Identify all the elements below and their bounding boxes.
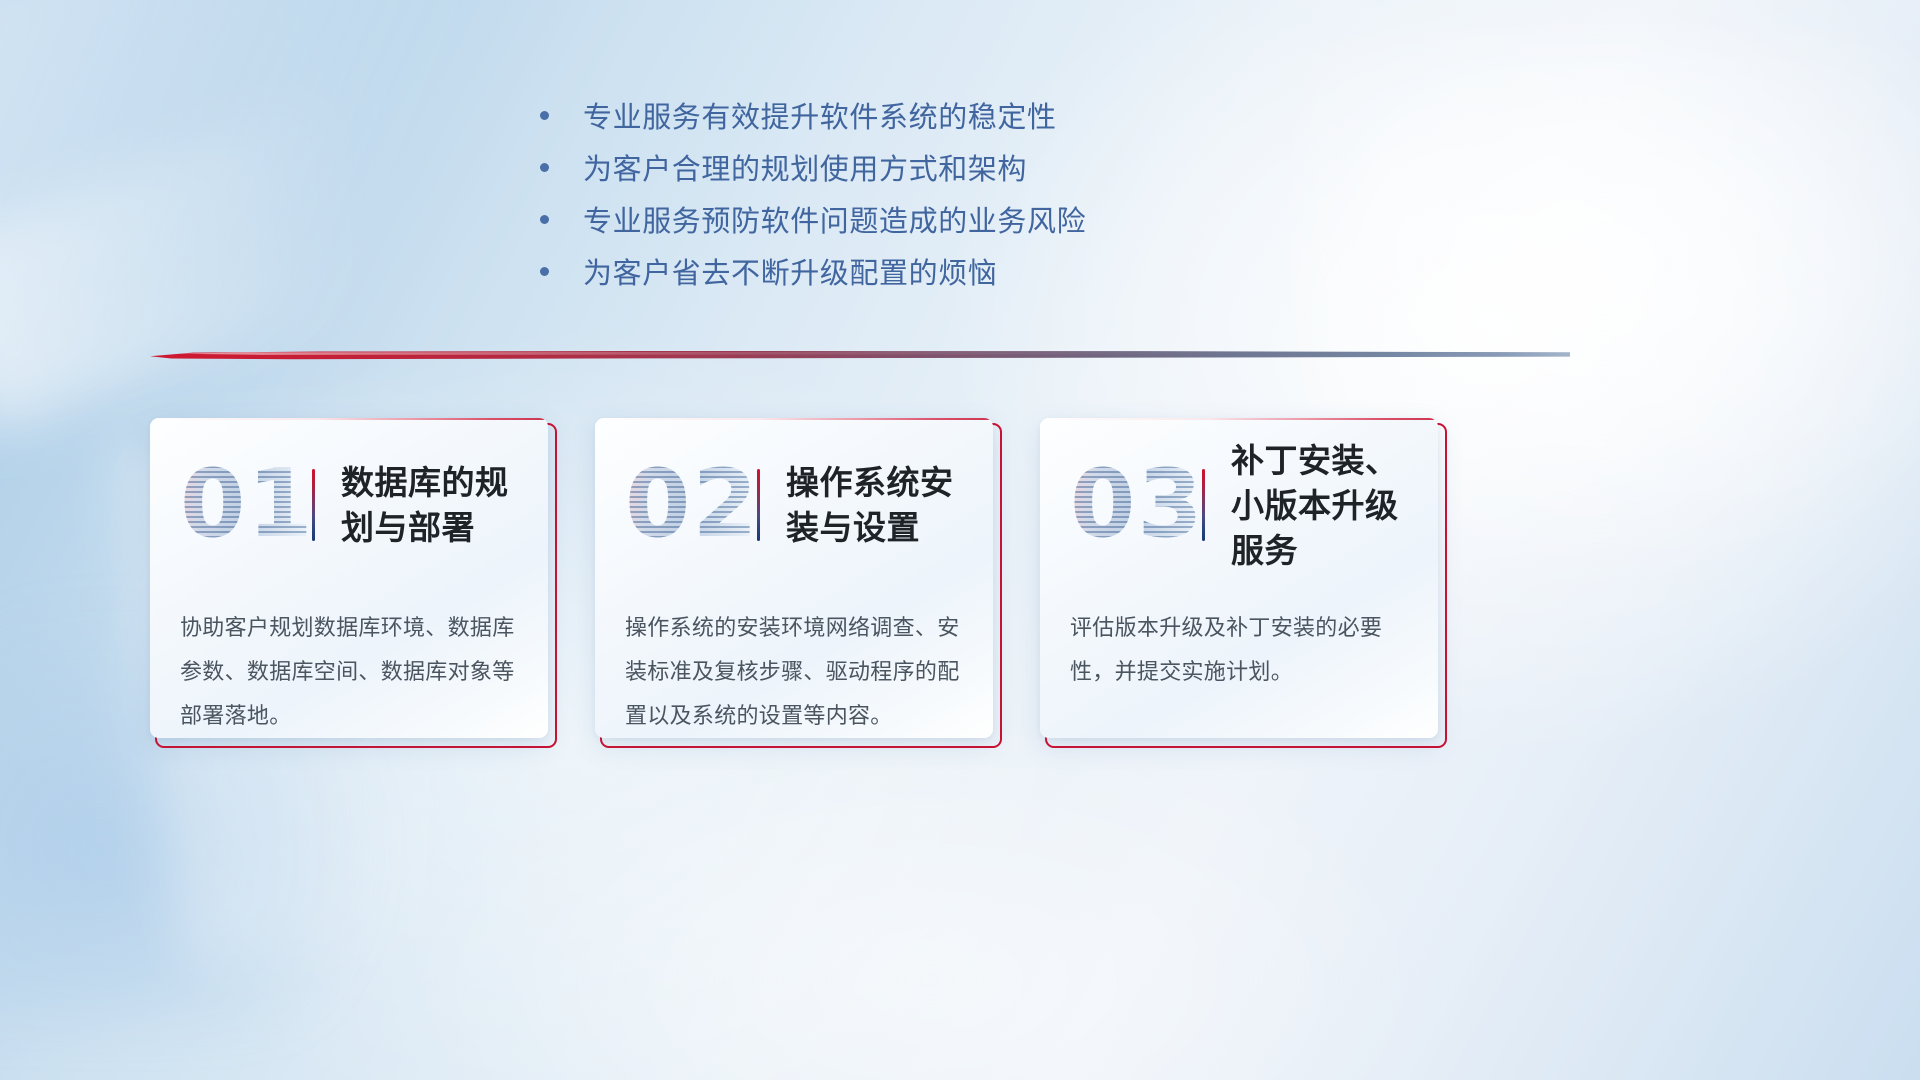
bullet-list-item-label: 专业服务有效提升软件系统的稳定性 (583, 92, 1057, 144)
card-number: 01 (180, 452, 308, 558)
bullet-list-item-label: 专业服务预防软件问题造成的业务风险 (583, 196, 1086, 248)
slide-canvas: 专业服务有效提升软件系统的稳定性 为客户合理的规划使用方式和架构 专业服务预防软… (0, 0, 1920, 1080)
feature-card[interactable]: 03 补丁安装、小版本升级服务 评估版本升级及补丁安装的必要性，并提交实施计划。 (1040, 418, 1442, 743)
bullet-list-item-label: 为客户省去不断升级配置的烦恼 (583, 248, 997, 300)
bullet-dot-icon (540, 267, 549, 276)
card-panel: 03 补丁安装、小版本升级服务 评估版本升级及补丁安装的必要性，并提交实施计划。 (1040, 418, 1438, 738)
bullet-dot-icon (540, 215, 549, 224)
card-number: 03 (1070, 452, 1198, 558)
card-number: 02 (625, 452, 753, 558)
background-light-streak (380, 700, 1480, 1080)
card-panel: 01 数据库的规划与部署 协助客户规划数据库环境、数据库参数、数据库空间、数据库… (150, 418, 548, 738)
bullet-list-item: 专业服务有效提升软件系统的稳定性 (540, 92, 1440, 144)
feature-card-row: 01 数据库的规划与部署 协助客户规划数据库环境、数据库参数、数据库空间、数据库… (150, 418, 1570, 748)
card-title: 补丁安装、小版本升级服务 (1231, 438, 1408, 573)
feature-card[interactable]: 01 数据库的规划与部署 协助客户规划数据库环境、数据库参数、数据库空间、数据库… (150, 418, 552, 743)
bullet-list-item-label: 为客户合理的规划使用方式和架构 (583, 144, 1027, 196)
bullet-list-item: 为客户合理的规划使用方式和架构 (540, 144, 1440, 196)
bullet-list-item: 专业服务预防软件问题造成的业务风险 (540, 196, 1440, 248)
bullet-list: 专业服务有效提升软件系统的稳定性 为客户合理的规划使用方式和架构 专业服务预防软… (540, 92, 1440, 300)
card-description: 操作系统的安装环境网络调查、安装标准及复核步骤、驱动程序的配置以及系统的设置等内… (625, 606, 963, 738)
section-divider (150, 345, 1570, 367)
bullet-list-item: 为客户省去不断升级配置的烦恼 (540, 248, 1440, 300)
card-description: 协助客户规划数据库环境、数据库参数、数据库空间、数据库对象等部署落地。 (180, 606, 518, 738)
bullet-dot-icon (540, 163, 549, 172)
card-panel: 02 操作系统安装与设置 操作系统的安装环境网络调查、安装标准及复核步骤、驱动程… (595, 418, 993, 738)
card-header: 03 补丁安装、小版本升级服务 (1070, 452, 1408, 558)
card-title: 操作系统安装与设置 (786, 460, 963, 550)
card-description: 评估版本升级及补丁安装的必要性，并提交实施计划。 (1070, 606, 1408, 694)
card-title: 数据库的规划与部署 (341, 460, 518, 550)
card-header: 01 数据库的规划与部署 (180, 452, 518, 558)
feature-card[interactable]: 02 操作系统安装与设置 操作系统的安装环境网络调查、安装标准及复核步骤、驱动程… (595, 418, 997, 743)
bullet-dot-icon (540, 111, 549, 120)
background-light-streak (0, 60, 479, 440)
card-header: 02 操作系统安装与设置 (625, 452, 963, 558)
